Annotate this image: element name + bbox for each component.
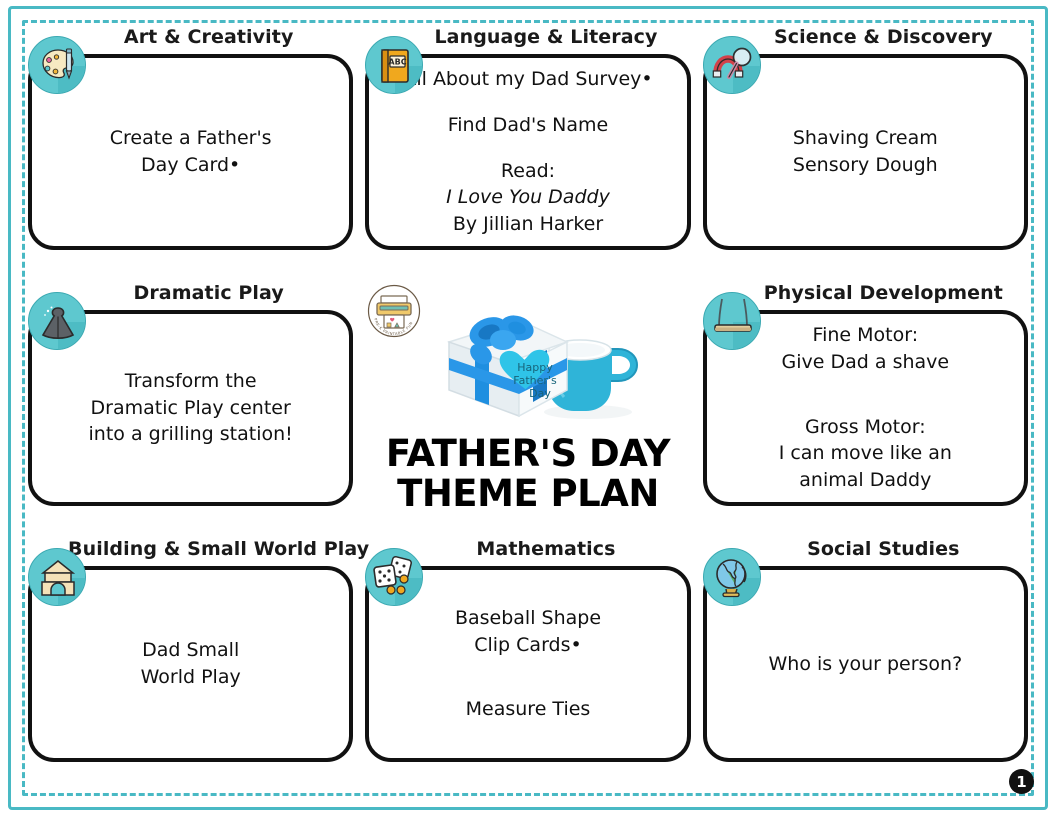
card-title: Social Studies xyxy=(743,538,1024,560)
fathers-day-gift-image: Happy Father's Day xyxy=(413,292,643,424)
abc-book-icon: ABC xyxy=(365,36,423,94)
card-text-line: Sensory Dough xyxy=(793,152,938,179)
card-title: Science & Discovery xyxy=(743,26,1024,48)
building-blocks-icon xyxy=(28,548,86,606)
theme-plan-page: Art & Creativity Create a Father'sDay Ca… xyxy=(0,0,1056,816)
card-text-line: Create a Father's xyxy=(110,125,272,152)
card-mathematics[interactable]: Mathematics xyxy=(365,540,690,788)
card-text-line: Measure Ties xyxy=(455,696,601,723)
card-text: Baseball ShapeClip Cards•Measure Ties xyxy=(455,605,601,724)
hero-tag-line3: Day xyxy=(529,387,551,400)
card-text-line: All About my Dad Survey• xyxy=(403,66,652,93)
theme-center-block: PRE-K PRINTABLE FUN xyxy=(365,284,690,532)
card-physical-development[interactable]: Physical Development Fine Motor:Give Dad… xyxy=(703,284,1028,532)
hero-tag-line1: Happy xyxy=(517,361,553,374)
swing-icon xyxy=(703,292,761,350)
card-title: Mathematics xyxy=(405,538,686,560)
card-text-line: World Play xyxy=(141,664,241,691)
dice-icon xyxy=(365,548,423,606)
card-dramatic-play[interactable]: Dramatic Play Transform theDramatic Play… xyxy=(28,284,353,532)
card-text: All About my Dad Survey•Find Dad's NameR… xyxy=(403,66,652,239)
card-text-line: Fine Motor: xyxy=(779,322,952,349)
card-text-line: Baseball Shape xyxy=(455,605,601,632)
card-text-line: animal Daddy xyxy=(779,467,952,494)
page-number-badge: 1 xyxy=(1009,769,1034,794)
card-text: Fine Motor:Give Dad a shaveGross Motor:I… xyxy=(779,322,952,495)
costume-cape-icon xyxy=(28,292,86,350)
card-art-creativity[interactable]: Art & Creativity Create a Father'sDay Ca… xyxy=(28,28,353,276)
card-social-studies[interactable]: Social Studies Who is your person? xyxy=(703,540,1028,788)
card-title: Language & Literacy xyxy=(405,26,686,48)
card-title: Art & Creativity xyxy=(68,26,349,48)
card-text-line: I Love You Daddy xyxy=(403,184,652,211)
brand-logo-icon: PRE-K PRINTABLE FUN xyxy=(367,284,421,338)
card-text: Transform theDramatic Play centerinto a … xyxy=(89,368,293,449)
page-title: FATHER'S DAY THEME PLAN xyxy=(386,434,670,514)
card-text-line: into a grilling station! xyxy=(89,421,293,448)
card-text-line: Read: xyxy=(403,158,652,185)
card-title: Building & Small World Play xyxy=(68,538,349,560)
card-text-line: Gross Motor: xyxy=(779,414,952,441)
card-title: Physical Development xyxy=(743,282,1024,304)
globe-icon xyxy=(703,548,761,606)
card-text: Who is your person? xyxy=(768,651,962,678)
card-building-small-world-play[interactable]: Building & Small World Play Dad SmallWor… xyxy=(28,540,353,788)
card-text-line: Find Dad's Name xyxy=(403,112,652,139)
card-text-line: Clip Cards• xyxy=(455,632,601,659)
card-text-line: Dad Small xyxy=(141,637,241,664)
card-text-line: Transform the xyxy=(89,368,293,395)
paint-palette-icon xyxy=(28,36,86,94)
card-language-literacy[interactable]: Language & Literacy ABC All About my Dad… xyxy=(365,28,690,276)
page-title-line2: THEME PLAN xyxy=(386,474,670,514)
card-text-line: Dramatic Play center xyxy=(89,395,293,422)
page-title-line1: FATHER'S DAY xyxy=(386,434,670,474)
card-text-line: Give Dad a shave xyxy=(779,349,952,376)
theme-plan-grid: Art & Creativity Create a Father'sDay Ca… xyxy=(28,28,1028,788)
card-text: Create a Father'sDay Card• xyxy=(110,125,272,179)
card-title: Dramatic Play xyxy=(68,282,349,304)
card-text: Dad SmallWorld Play xyxy=(141,637,241,691)
card-text-line: Shaving Cream xyxy=(793,125,938,152)
card-science-discovery[interactable]: Science & Discovery Shaving CreamSensory… xyxy=(703,28,1028,276)
magnet-magnifier-icon xyxy=(703,36,761,94)
card-text-line: Who is your person? xyxy=(768,651,962,678)
card-text-line: By Jillian Harker xyxy=(403,211,652,238)
card-text-line: I can move like an xyxy=(779,440,952,467)
svg-text:ABC: ABC xyxy=(389,58,407,67)
card-text-line: Day Card• xyxy=(110,152,272,179)
hero-tag-line2: Father's xyxy=(513,374,557,387)
card-text: Shaving CreamSensory Dough xyxy=(793,125,938,179)
